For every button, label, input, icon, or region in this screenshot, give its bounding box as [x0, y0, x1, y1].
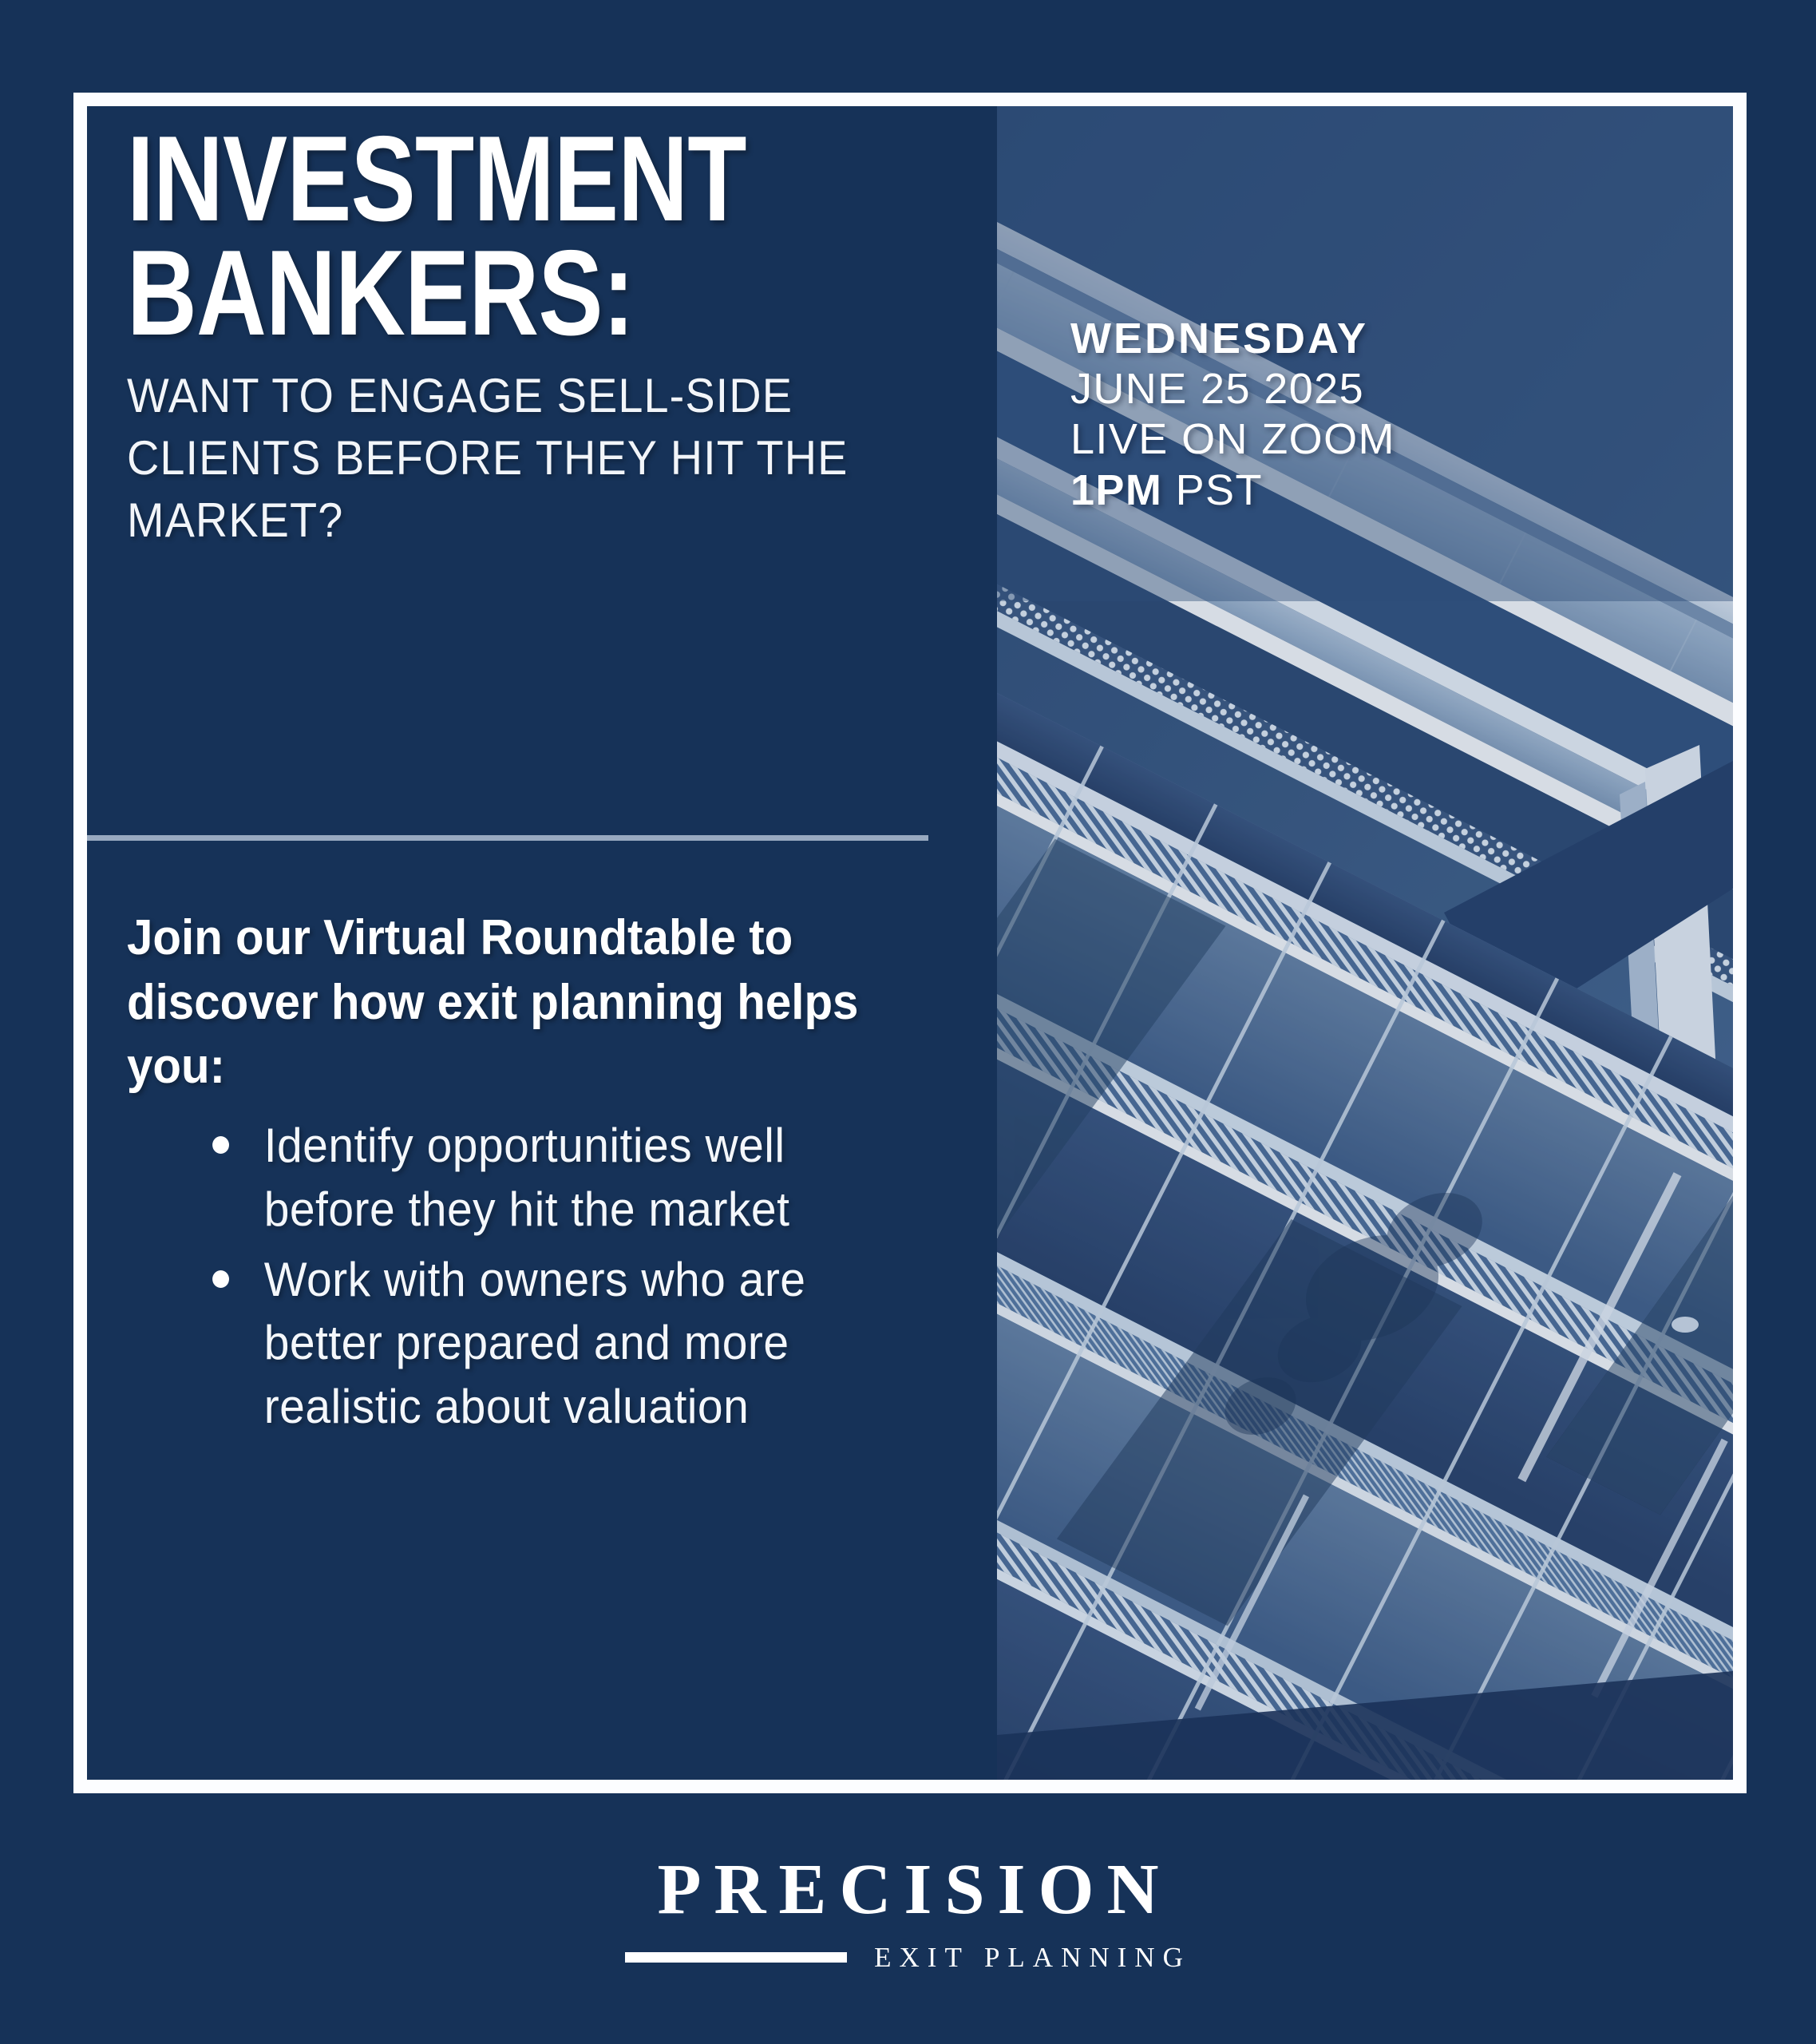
list-item: Identify opportunities well before they … — [199, 1114, 920, 1242]
event-time-value: 1PM — [1070, 466, 1162, 514]
event-details: WEDNESDAY JUNE 25 2025 LIVE ON ZOOM 1PM … — [1070, 314, 1565, 516]
event-date: JUNE 25 2025 — [1070, 364, 1565, 414]
content-column: INVESTMENT BANKERS: WANT TO ENGAGE SELL-… — [87, 106, 1013, 1780]
page-title: INVESTMENT BANKERS: — [127, 122, 804, 351]
subheadline: WANT TO ENGAGE SELL-SIDE CLIENTS BEFORE … — [127, 365, 869, 552]
brand-logo: PRECISION EXIT PLANNING — [0, 1854, 1816, 1971]
logo-tagline-row: EXIT PLANNING — [0, 1943, 1816, 1971]
frame-inner: WEDNESDAY JUNE 25 2025 LIVE ON ZOOM 1PM … — [87, 106, 1733, 1780]
logo-wordmark: PRECISION — [0, 1854, 1816, 1926]
list-item: Work with owners who are better prepared… — [199, 1248, 920, 1439]
lead-paragraph: Join our Virtual Roundtable to discover … — [127, 906, 884, 1099]
logo-rule — [625, 1952, 847, 1963]
list-item-text: Identify opportunities well before they … — [264, 1119, 790, 1236]
bullet-dot-icon — [212, 1270, 229, 1288]
section-divider — [74, 835, 928, 841]
logo-tagline: EXIT PLANNING — [866, 1943, 1191, 1971]
event-time: 1PM PST — [1070, 465, 1565, 516]
poster-canvas: WEDNESDAY JUNE 25 2025 LIVE ON ZOOM 1PM … — [0, 0, 1816, 2044]
event-day: WEDNESDAY — [1070, 314, 1565, 364]
list-item-text: Work with owners who are better prepared… — [264, 1253, 806, 1434]
benefits-list: Identify opportunities well before they … — [199, 1114, 957, 1445]
building-photo: WEDNESDAY JUNE 25 2025 LIVE ON ZOOM 1PM … — [997, 106, 1733, 1781]
event-platform: LIVE ON ZOOM — [1070, 414, 1565, 465]
poster-frame: WEDNESDAY JUNE 25 2025 LIVE ON ZOOM 1PM … — [73, 93, 1747, 1793]
event-timezone: PST — [1176, 466, 1263, 514]
bullet-dot-icon — [212, 1136, 229, 1154]
